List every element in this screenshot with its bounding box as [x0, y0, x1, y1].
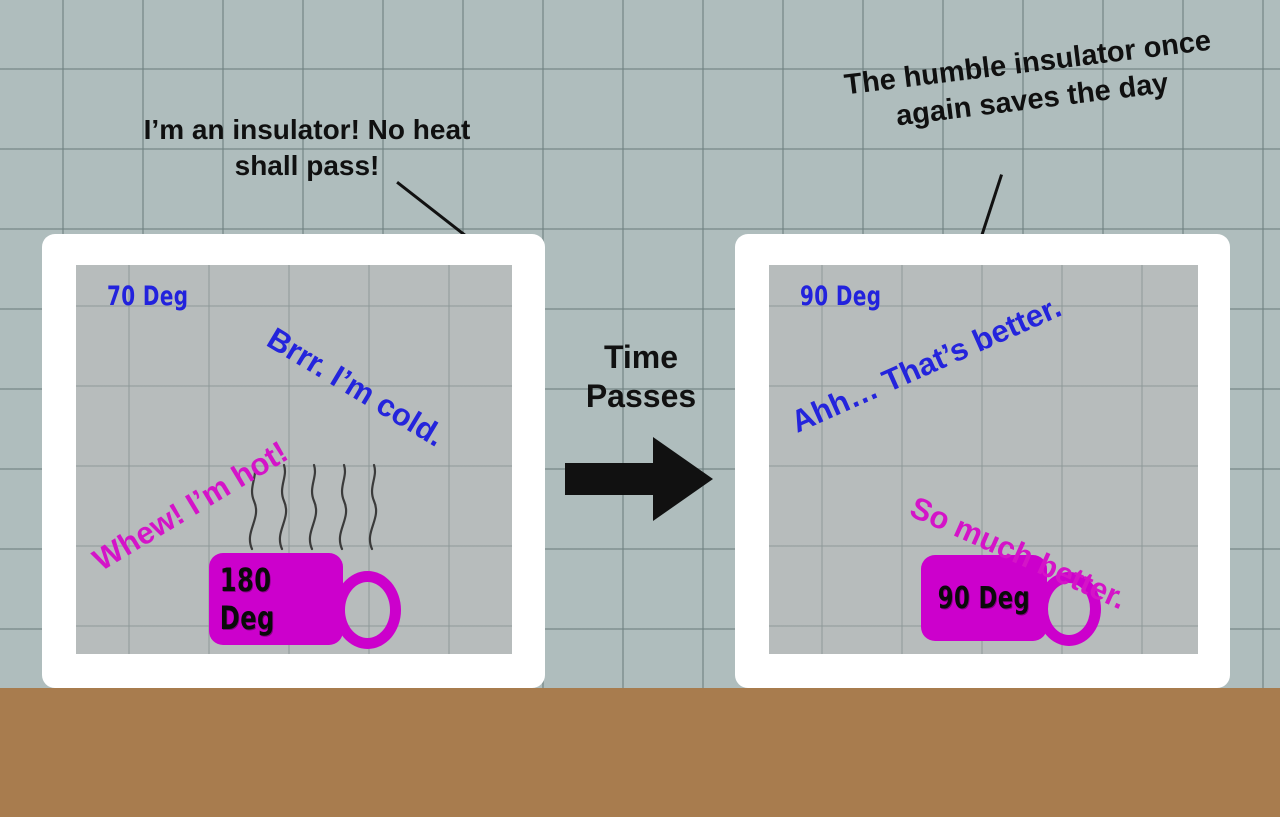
mug-temperature-label-before: 180 Deg — [220, 561, 333, 637]
right-arrow-icon — [565, 437, 713, 521]
mug-temperature-label-after: 90 Deg — [938, 581, 1030, 616]
time-passes-label: Time Passes — [556, 338, 726, 416]
mug-before: 180 Deg — [209, 553, 385, 645]
illustration-scene: I’m an insulator! No heat shall pass! Th… — [0, 0, 1280, 817]
room-temperature-label-after: 90 Deg — [800, 281, 881, 312]
table-surface — [0, 688, 1280, 817]
panel-before-inner: 70 Deg 180 Deg — [76, 265, 512, 654]
mug-handle-before — [334, 571, 401, 649]
room-temperature-label-before: 70 Deg — [107, 281, 188, 312]
panel-after: 90 Deg 90 Deg — [735, 234, 1230, 688]
caption-left: I’m an insulator! No heat shall pass! — [92, 112, 522, 184]
mug-body-before: 180 Deg — [209, 553, 343, 645]
panel-before: 70 Deg 180 Deg — [42, 234, 545, 688]
